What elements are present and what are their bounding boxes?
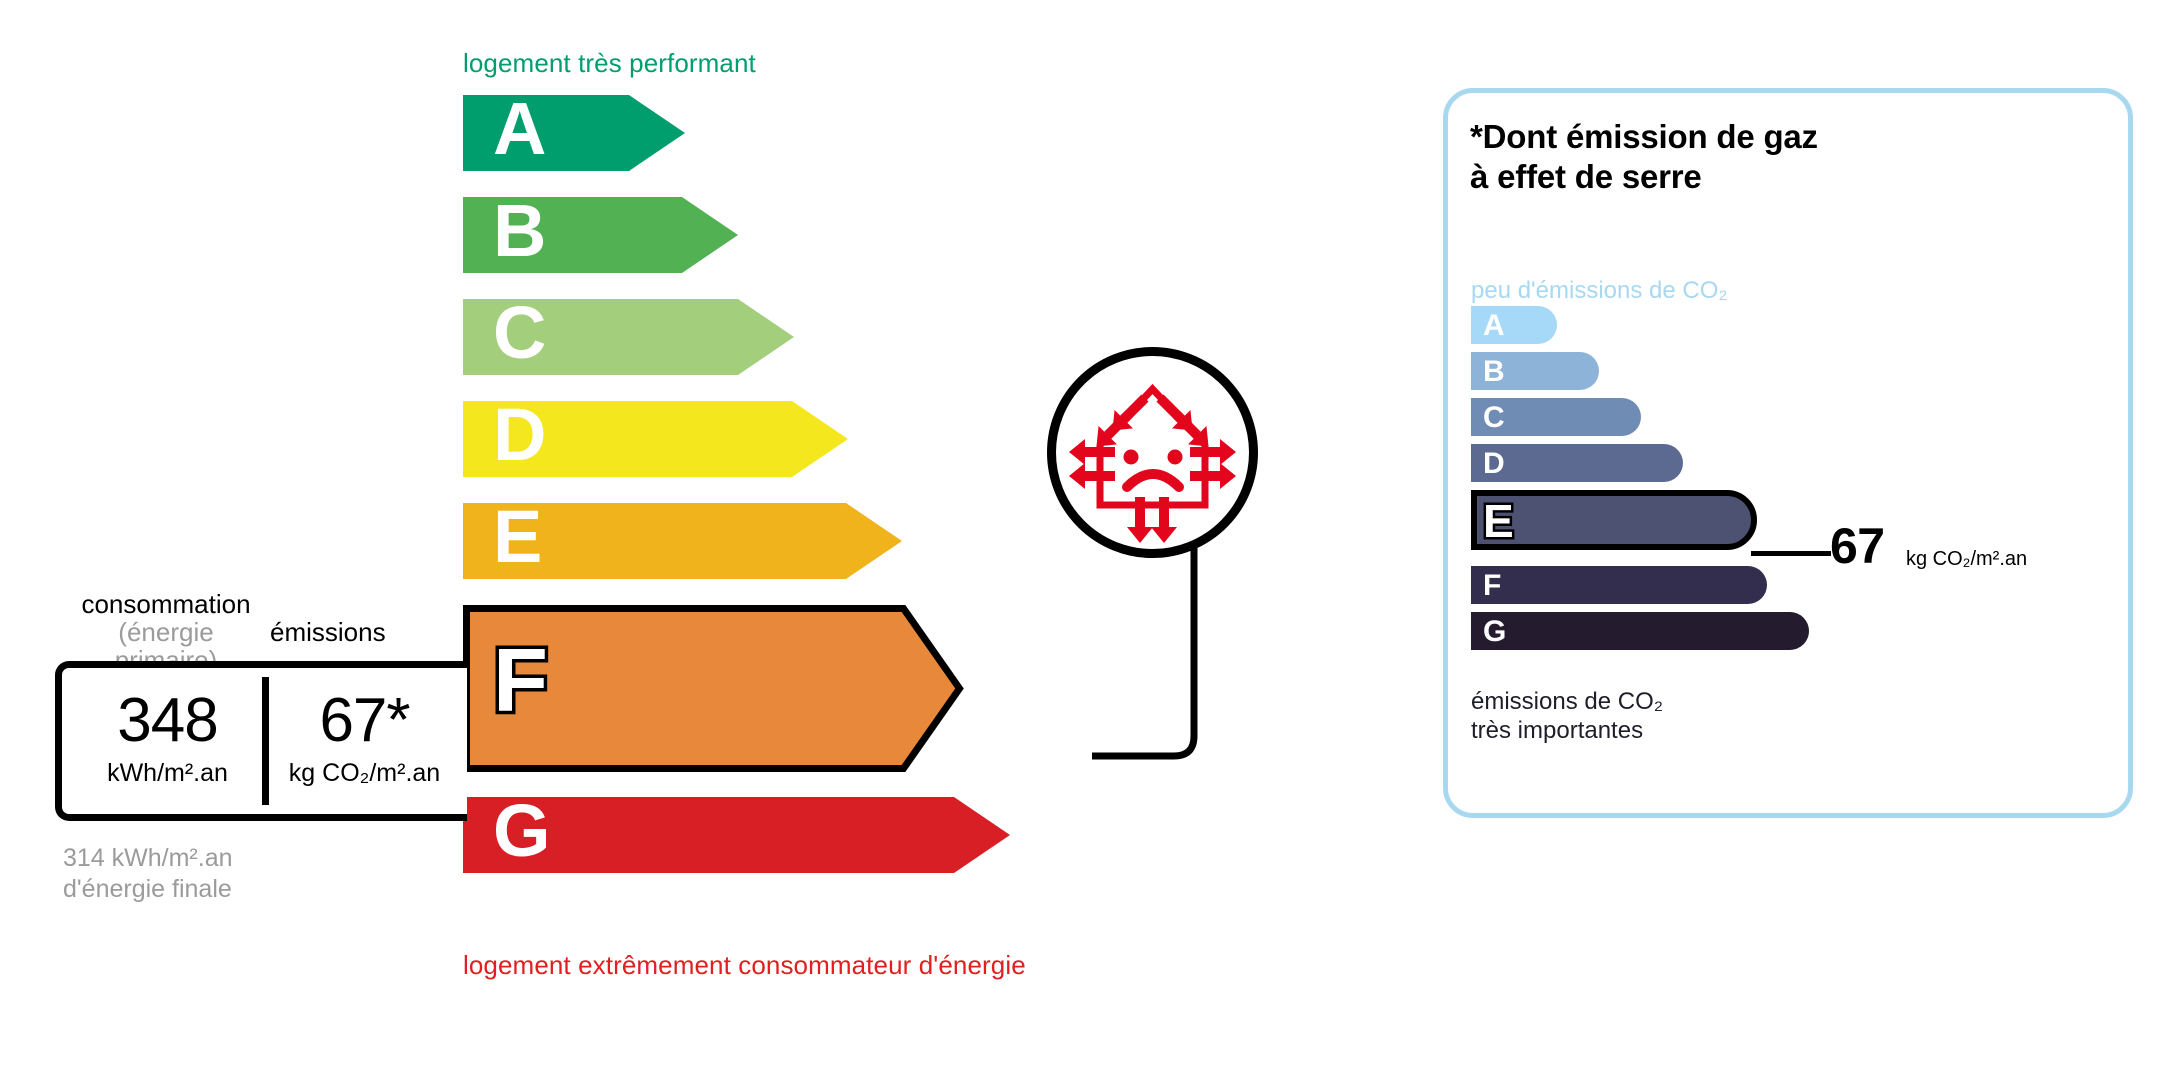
energy-band-letter-E: E	[493, 500, 542, 574]
co2-callout-line	[1751, 551, 1831, 556]
energy-consumption-section: logement très performant ABCDEFG logemen…	[0, 0, 1380, 1079]
energy-band-letter-D: D	[493, 398, 546, 472]
emissions-value: 67*	[272, 690, 457, 752]
final-energy-line2: d'énergie finale	[63, 875, 232, 903]
co2-bar-letter-B: B	[1483, 357, 1505, 387]
co2-bar-F[interactable]	[1471, 566, 1767, 604]
co2-bottom-caption: émissions de CO₂ très importantes	[1471, 688, 1663, 746]
energy-top-caption: logement très performant	[463, 48, 756, 79]
energy-band-letter-B: B	[493, 194, 546, 268]
energy-band-letter-A: A	[493, 92, 546, 166]
co2-top-caption: peu d'émissions de CO₂	[1471, 277, 1728, 305]
co2-title-line1: *Dont émission de gaz	[1470, 118, 1818, 155]
value-box-divider	[262, 677, 269, 805]
energy-band-letter-F: F	[493, 636, 548, 726]
co2-bar-letter-A: A	[1483, 311, 1505, 341]
co2-bar-letter-F: F	[1483, 571, 1501, 601]
primary-energy-unit: kWh/m².an	[75, 761, 260, 786]
label-consommation-main: consommation	[81, 589, 250, 619]
emissions-unit: kg CO₂/m².an	[272, 761, 457, 786]
energy-band-letter-C: C	[493, 296, 546, 370]
energy-bottom-caption: logement extrêmement consommateur d'éner…	[463, 950, 1026, 981]
co2-bottom-caption-line2: très importantes	[1471, 717, 1643, 744]
primary-energy-value-cell: 348 kWh/m².an	[75, 690, 260, 786]
emissions-value-cell: 67* kg CO₂/m².an	[272, 690, 457, 786]
co2-bottom-caption-line1: émissions de CO₂	[1471, 688, 1663, 715]
label-emissions: émissions	[270, 617, 400, 648]
co2-callout-value: 67	[1830, 521, 1885, 571]
final-energy-line1: 314 kWh/m².an	[63, 844, 233, 872]
primary-energy-value: 348	[75, 690, 260, 752]
co2-callout-unit: kg CO₂/m².an	[1906, 548, 2027, 571]
final-energy-note: 314 kWh/m².an d'énergie finale	[63, 843, 233, 906]
marker-connector-line	[1090, 540, 1290, 760]
co2-bar-letter-G: G	[1483, 617, 1506, 647]
co2-bar-letter-D: D	[1483, 449, 1505, 479]
dpe-diagram: logement très performant ABCDEFG logemen…	[0, 0, 2169, 1079]
co2-bar-letter-E: E	[1483, 498, 1514, 544]
co2-panel-title: *Dont émission de gaz à effet de serre	[1470, 117, 1818, 196]
energy-band-letter-G: G	[493, 794, 551, 868]
co2-bar-G[interactable]	[1471, 612, 1809, 650]
co2-bar-letter-C: C	[1483, 403, 1505, 433]
co2-title-line2: à effet de serre	[1470, 158, 1702, 195]
sad-house-heat-loss-icon	[1045, 345, 1260, 560]
